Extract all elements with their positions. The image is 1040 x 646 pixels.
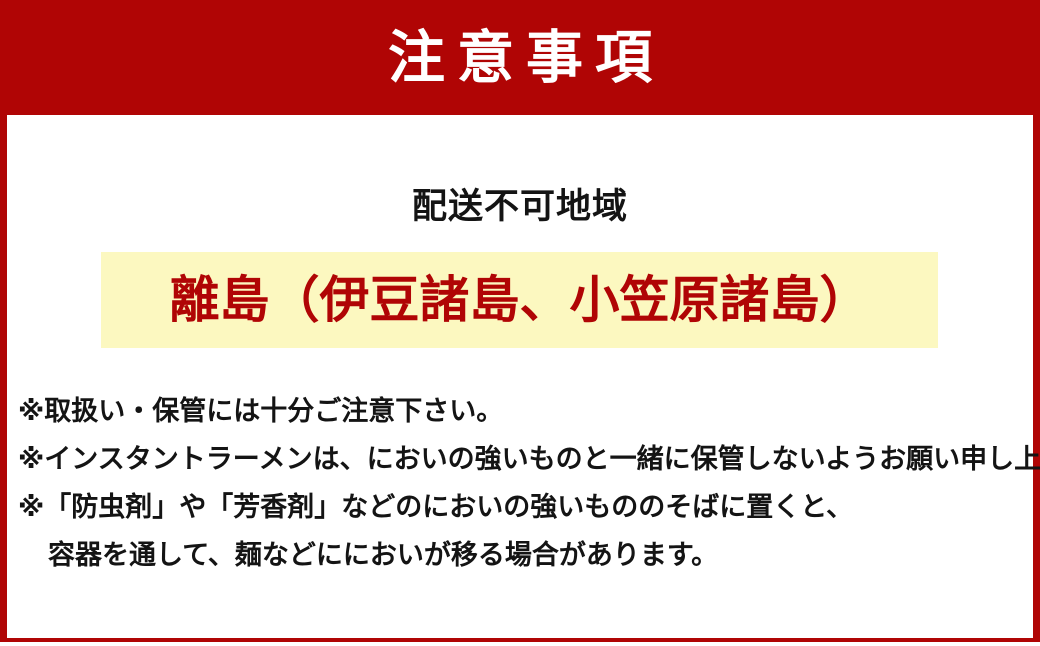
notes-list: ※取扱い・保管には十分ご注意下さい。 ※インスタントラーメンは、においの強いもの… (18, 387, 1022, 579)
note-line: ※インスタントラーメンは、においの強いものと一緒に保管しないようお願い申し上げま… (18, 435, 1022, 483)
banner-title: 注意事項 (0, 24, 1040, 92)
note-line: ※取扱い・保管には十分ご注意下さい。 (18, 387, 1022, 435)
frame-border-bottom (0, 638, 1040, 642)
note-line: ※「防虫剤」や「芳香剤」などのにおいの強いもののそばに置くと、 (18, 483, 1022, 531)
undeliverable-area-text: 離島（伊豆諸島、小笠原諸島） (170, 271, 870, 329)
undeliverable-area-box: 離島（伊豆諸島、小笠原諸島） (101, 252, 938, 348)
section-subtitle: 配送不可地域 (0, 186, 1040, 228)
notice-banner: 注意事項 配送不可地域 離島（伊豆諸島、小笠原諸島） ※取扱い・保管には十分ご注… (0, 0, 1040, 646)
note-line: 容器を通して、麺などににおいが移る場合があります。 (18, 531, 1022, 579)
